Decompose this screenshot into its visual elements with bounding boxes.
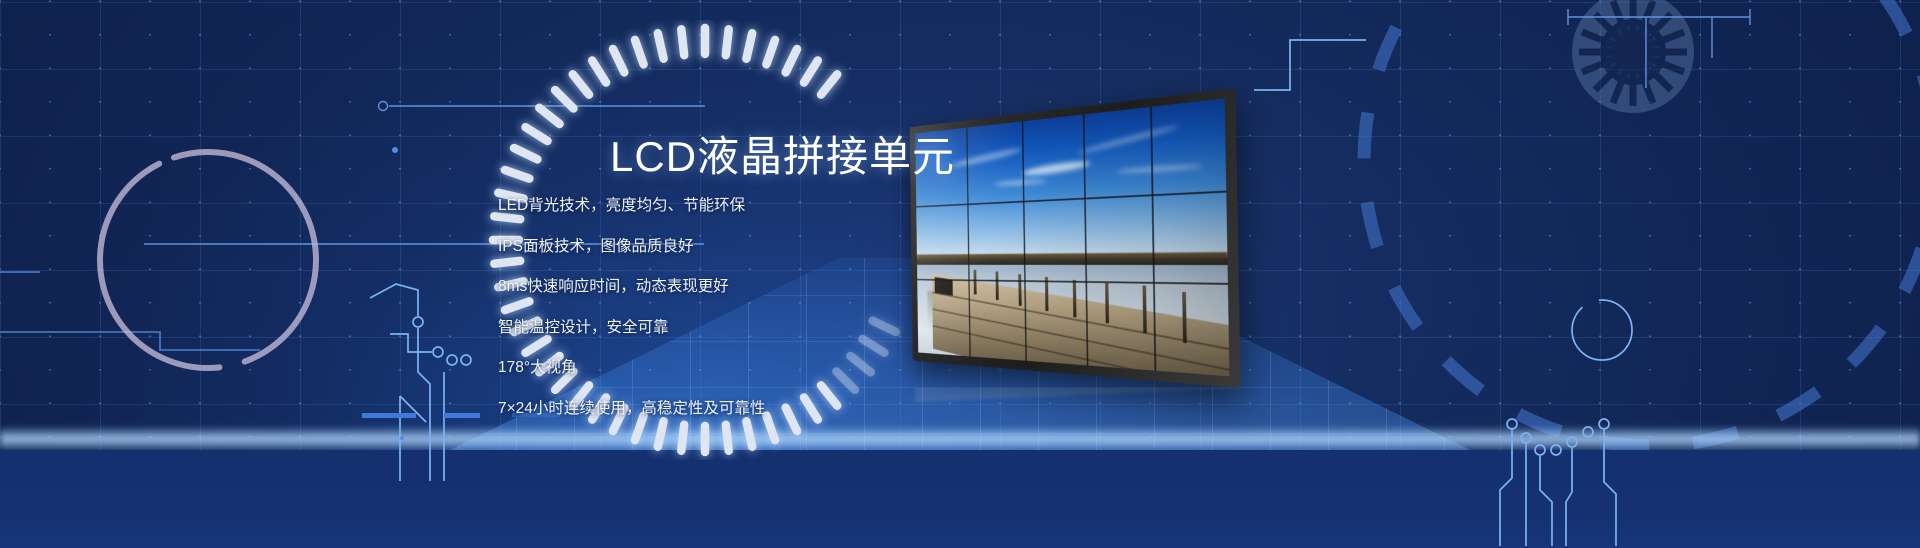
feature-item: LED背光技术，亮度均匀、节能环保: [498, 198, 968, 214]
feature-item: 178°大视角: [498, 360, 968, 376]
accent-dot: [400, 436, 404, 440]
lcd-product-banner: LCD液晶拼接单元 LED背光技术，亮度均匀、节能环保 IPS面板技术，图像品质…: [0, 0, 1920, 548]
gear-wheel-icon: [1567, 0, 1699, 118]
open-circle-decor: [88, 140, 328, 380]
feature-item: 8ms快速响应时间，动态表现更好: [498, 279, 968, 295]
accent-dot: [392, 147, 398, 153]
page-title: LCD液晶拼接单元: [610, 134, 968, 180]
feature-item: 智能温控设计，安全可靠: [498, 320, 968, 336]
banner-copy: LCD液晶拼接单元 LED背光技术，亮度均匀、节能环保 IPS面板技术，图像品质…: [498, 134, 968, 416]
accent-mark: [362, 413, 416, 418]
feature-list: LED背光技术，亮度均匀、节能环保 IPS面板技术，图像品质良好 8ms快速响应…: [498, 198, 968, 416]
feature-item: 7×24小时连续使用，高稳定性及可靠性: [498, 401, 968, 417]
feature-item: IPS面板技术，图像品质良好: [498, 239, 968, 255]
